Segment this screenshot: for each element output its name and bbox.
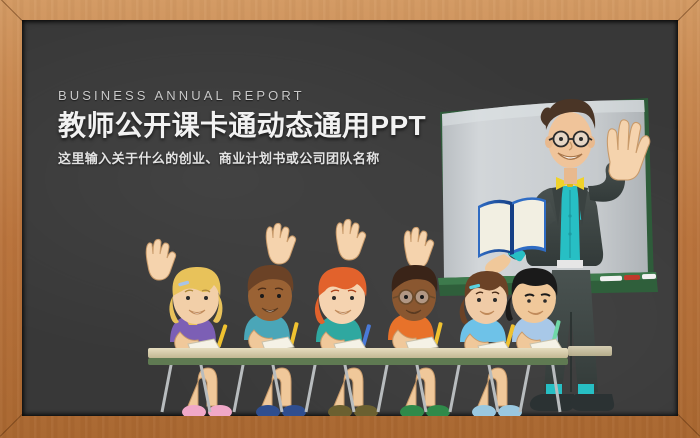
desk-row xyxy=(148,346,612,365)
marker-white-1 xyxy=(600,276,622,282)
student-glasses-boy xyxy=(392,265,438,321)
student-brown-boy xyxy=(248,265,294,321)
slide-root: BUSINESS ANNUAL REPORT 教师公开课卡通动态通用PPT 这里… xyxy=(0,0,700,438)
student-redhead-girl xyxy=(315,267,367,324)
teacher-book xyxy=(478,197,546,258)
page-subtitle: 这里输入关于什么的创业、商业计划书或公司团队名称 xyxy=(58,148,426,167)
chalkboard: BUSINESS ANNUAL REPORT 教师公开课卡通动态通用PPT 这里… xyxy=(22,20,678,416)
marker-white-2 xyxy=(642,274,656,279)
marker-red xyxy=(624,275,640,280)
eyebrow-text: BUSINESS ANNUAL REPORT xyxy=(58,88,426,103)
page-title: 教师公开课卡通动态通用PPT xyxy=(58,111,426,141)
teacher-shoe-right xyxy=(571,394,614,411)
student-heads xyxy=(169,265,557,324)
classroom-illustration xyxy=(22,20,678,416)
teacher-shoe-left xyxy=(530,394,574,411)
student-blonde-girl xyxy=(169,267,222,324)
title-block: BUSINESS ANNUAL REPORT 教师公开课卡通动态通用PPT 这里… xyxy=(58,88,426,167)
